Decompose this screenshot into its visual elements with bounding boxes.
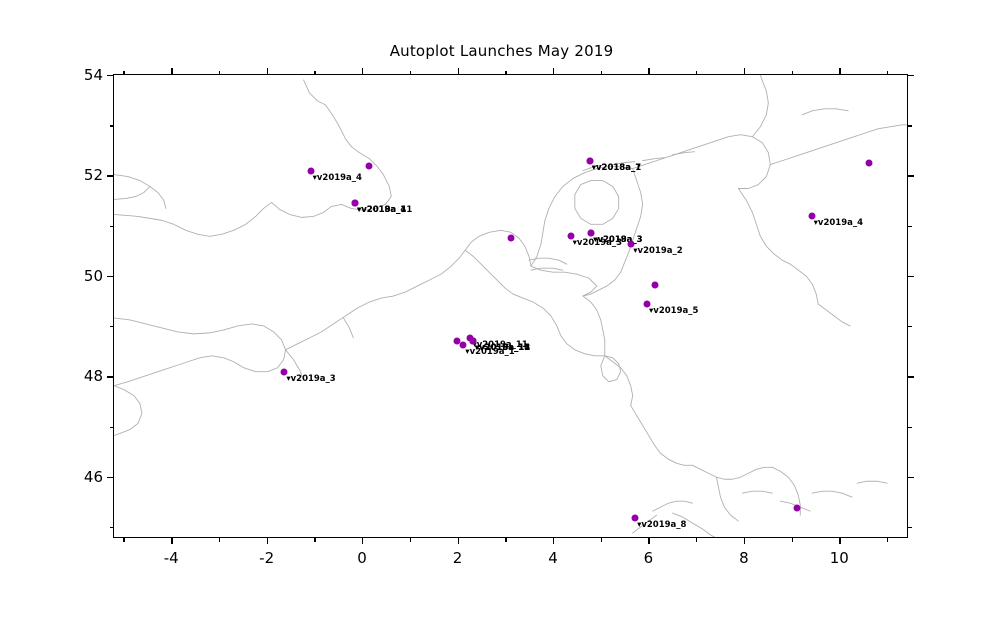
y-tick-major-right [908, 175, 914, 176]
x-tick-major [267, 538, 268, 544]
x-tick-label: 6 [644, 549, 654, 567]
data-point-marker[interactable] [365, 163, 372, 170]
x-tick-minor [505, 538, 506, 542]
y-tick-label: 46 [65, 468, 103, 486]
data-point-label: ▾v2018a_7 [592, 163, 641, 173]
x-tick-label: 10 [830, 549, 849, 567]
data-point-label: ▾v2018a_1 [357, 205, 406, 215]
x-tick-major-top [553, 68, 554, 74]
x-tick-minor-top [219, 71, 220, 75]
x-tick-label: 2 [453, 549, 463, 567]
y-tick-label: 54 [65, 66, 103, 84]
x-tick-major [744, 538, 745, 544]
y-tick-minor-right [908, 125, 912, 126]
data-point-label: ▾v2019a_5 [649, 306, 698, 316]
x-tick-minor [792, 538, 793, 542]
x-tick-minor-top [601, 71, 602, 75]
x-tick-major [458, 538, 459, 544]
y-tick-major-right [908, 276, 914, 277]
y-tick-minor-right [908, 427, 912, 428]
x-tick-major-top [458, 68, 459, 74]
x-tick-major-top [648, 68, 649, 74]
y-tick-minor [110, 527, 114, 528]
y-tick-label: 52 [65, 166, 103, 184]
x-tick-label: 4 [548, 549, 558, 567]
coastline-layer [114, 75, 907, 537]
y-tick-label: 50 [65, 267, 103, 285]
y-tick-major-right [908, 376, 914, 377]
data-point-label: ▾v2019a_13 [475, 343, 530, 353]
x-tick-minor [314, 538, 315, 542]
x-tick-minor-top [792, 71, 793, 75]
x-tick-major-top [362, 68, 363, 74]
y-tick-minor-right [908, 226, 912, 227]
data-point-label: ▾v2019a_4 [313, 173, 362, 183]
x-tick-label: -2 [259, 549, 274, 567]
data-point-marker[interactable] [865, 159, 872, 166]
data-point-label: ▾v2019a_4 [814, 218, 863, 228]
x-tick-major-top [744, 68, 745, 74]
x-tick-major-top [267, 68, 268, 74]
data-point-label: ▾v2019a_8 [637, 520, 686, 530]
x-tick-minor [887, 538, 888, 542]
y-tick-major [107, 75, 113, 76]
x-tick-minor-top [123, 71, 124, 75]
x-tick-major [839, 538, 840, 544]
y-tick-major-right [908, 75, 914, 76]
x-tick-minor-top [410, 71, 411, 75]
x-tick-minor [123, 538, 124, 542]
x-tick-major-top [171, 68, 172, 74]
y-tick-major [107, 175, 113, 176]
x-tick-minor-top [314, 71, 315, 75]
data-point-marker[interactable] [508, 234, 515, 241]
x-tick-label: -4 [164, 549, 179, 567]
x-tick-minor-top [887, 71, 888, 75]
x-tick-major-top [839, 68, 840, 74]
data-point-label: ▾v2019a_3 [286, 374, 335, 384]
chart-title: Autoplot Launches May 2019 [0, 42, 1003, 60]
x-tick-minor-top [505, 71, 506, 75]
data-point-label: ▾v2019a_2 [633, 246, 682, 256]
y-tick-major-right [908, 477, 914, 478]
x-tick-major [553, 538, 554, 544]
y-tick-minor [110, 226, 114, 227]
y-tick-minor [110, 326, 114, 327]
x-tick-label: 8 [739, 549, 749, 567]
x-tick-label: 0 [357, 549, 367, 567]
y-tick-major [107, 376, 113, 377]
y-tick-major [107, 276, 113, 277]
x-tick-minor [696, 538, 697, 542]
y-tick-major [107, 477, 113, 478]
x-tick-minor-top [696, 71, 697, 75]
x-tick-major [171, 538, 172, 544]
y-tick-minor-right [908, 326, 912, 327]
x-tick-major [648, 538, 649, 544]
x-tick-minor [601, 538, 602, 542]
x-tick-minor [410, 538, 411, 542]
data-point-label: ▾v2018a_3 [593, 235, 642, 245]
map-plot-area: ▾v2019a_4▾v2019a_4▾v2019a_11▾v2018a_1▾v2… [113, 74, 908, 538]
x-tick-minor [219, 538, 220, 542]
figure-canvas: Autoplot Launches May 2019 [0, 0, 1003, 633]
data-point-marker[interactable] [652, 282, 659, 289]
y-tick-minor [110, 125, 114, 126]
y-tick-minor [110, 427, 114, 428]
y-tick-label: 48 [65, 367, 103, 385]
data-point-marker[interactable] [794, 504, 801, 511]
x-tick-major [362, 538, 363, 544]
y-tick-minor-right [908, 527, 912, 528]
